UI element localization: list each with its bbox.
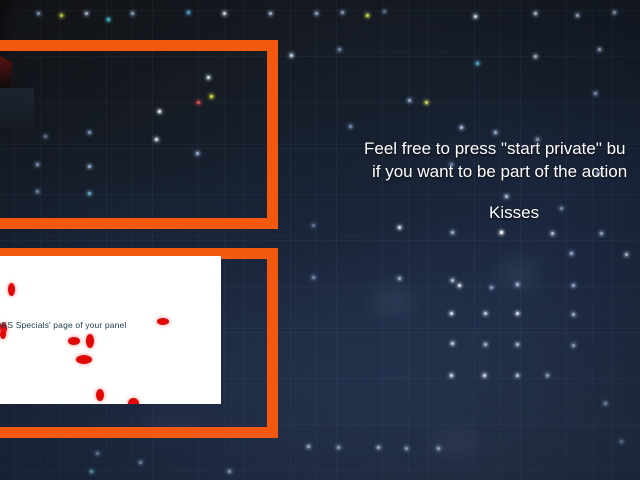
background-node: [598, 48, 601, 51]
background-node: [341, 11, 344, 14]
background-node: [572, 344, 575, 347]
obs-specials-card-text: ure this in 'OBS Specials' page of your …: [0, 320, 126, 330]
background-node: [437, 447, 440, 450]
background-node: [476, 62, 479, 65]
background-node: [107, 18, 110, 21]
background-node: [505, 195, 508, 198]
background-node: [484, 343, 487, 346]
background-node: [500, 231, 503, 234]
background-node: [377, 446, 380, 449]
background-node: [600, 232, 603, 235]
red-blot: [8, 283, 15, 296]
background-node: [516, 283, 519, 286]
background-node: [450, 374, 453, 377]
background-node: [85, 12, 88, 15]
background-node: [223, 12, 226, 15]
background-node: [484, 312, 487, 315]
background-node: [516, 374, 519, 377]
red-blot: [157, 318, 169, 325]
red-blot: [96, 389, 104, 401]
background-node: [349, 125, 352, 128]
background-node: [60, 14, 63, 17]
background-node: [398, 277, 401, 280]
background-node: [405, 447, 408, 450]
background-node: [131, 12, 134, 15]
obs-specials-white-card[interactable]: ure this in 'OBS Specials' page of your …: [0, 256, 221, 404]
red-blot: [128, 398, 139, 404]
background-node: [494, 131, 497, 134]
overlay-text-line-1: Feel free to press "start private" bu: [364, 137, 626, 160]
background-node: [534, 55, 537, 58]
background-node: [604, 402, 607, 405]
background-node: [451, 279, 454, 282]
background-node: [312, 276, 315, 279]
background-node: [516, 343, 519, 346]
background-node: [576, 14, 579, 17]
background-node: [516, 312, 519, 315]
background-node: [613, 11, 616, 14]
red-blot: [68, 337, 80, 345]
background-node: [572, 284, 575, 287]
screen-capture: ure this in 'OBS Specials' page of your …: [0, 0, 640, 480]
background-node: [398, 226, 401, 229]
background-node: [534, 12, 537, 15]
background-node: [570, 252, 573, 255]
background-node: [490, 286, 493, 289]
red-blot: [86, 334, 94, 348]
background-node: [546, 374, 549, 377]
background-node: [366, 14, 369, 17]
background-node: [187, 11, 190, 14]
top-orange-panel[interactable]: [0, 40, 278, 229]
background-node: [625, 253, 628, 256]
red-blot: [76, 355, 92, 364]
background-node: [560, 207, 563, 210]
background-node: [315, 12, 318, 15]
background-node: [96, 452, 99, 455]
background-node: [474, 15, 477, 18]
background-node: [139, 461, 142, 464]
background-node: [620, 440, 623, 443]
background-node: [269, 12, 272, 15]
background-node: [408, 99, 411, 102]
background-node: [337, 446, 340, 449]
background-node: [458, 284, 461, 287]
background-node: [228, 470, 231, 473]
background-glow-1: [370, 285, 416, 319]
background-node: [383, 10, 386, 13]
background-node: [312, 224, 315, 227]
background-node: [551, 232, 554, 235]
overlay-text-line-3: Kisses: [489, 201, 539, 224]
overlay-text-line-2: if you want to be part of the action: [372, 160, 627, 183]
background-node: [451, 342, 454, 345]
background-node: [90, 470, 93, 473]
background-glow-3: [432, 428, 480, 458]
background-node: [450, 312, 453, 315]
background-node: [594, 92, 597, 95]
background-node: [460, 126, 463, 129]
background-node: [290, 54, 293, 57]
background-node: [307, 445, 310, 448]
background-node: [37, 12, 40, 15]
background-node: [338, 48, 341, 51]
background-node: [572, 313, 575, 316]
red-blot: [0, 330, 6, 339]
background-node: [483, 374, 486, 377]
background-node: [425, 101, 428, 104]
background-node: [451, 231, 454, 234]
